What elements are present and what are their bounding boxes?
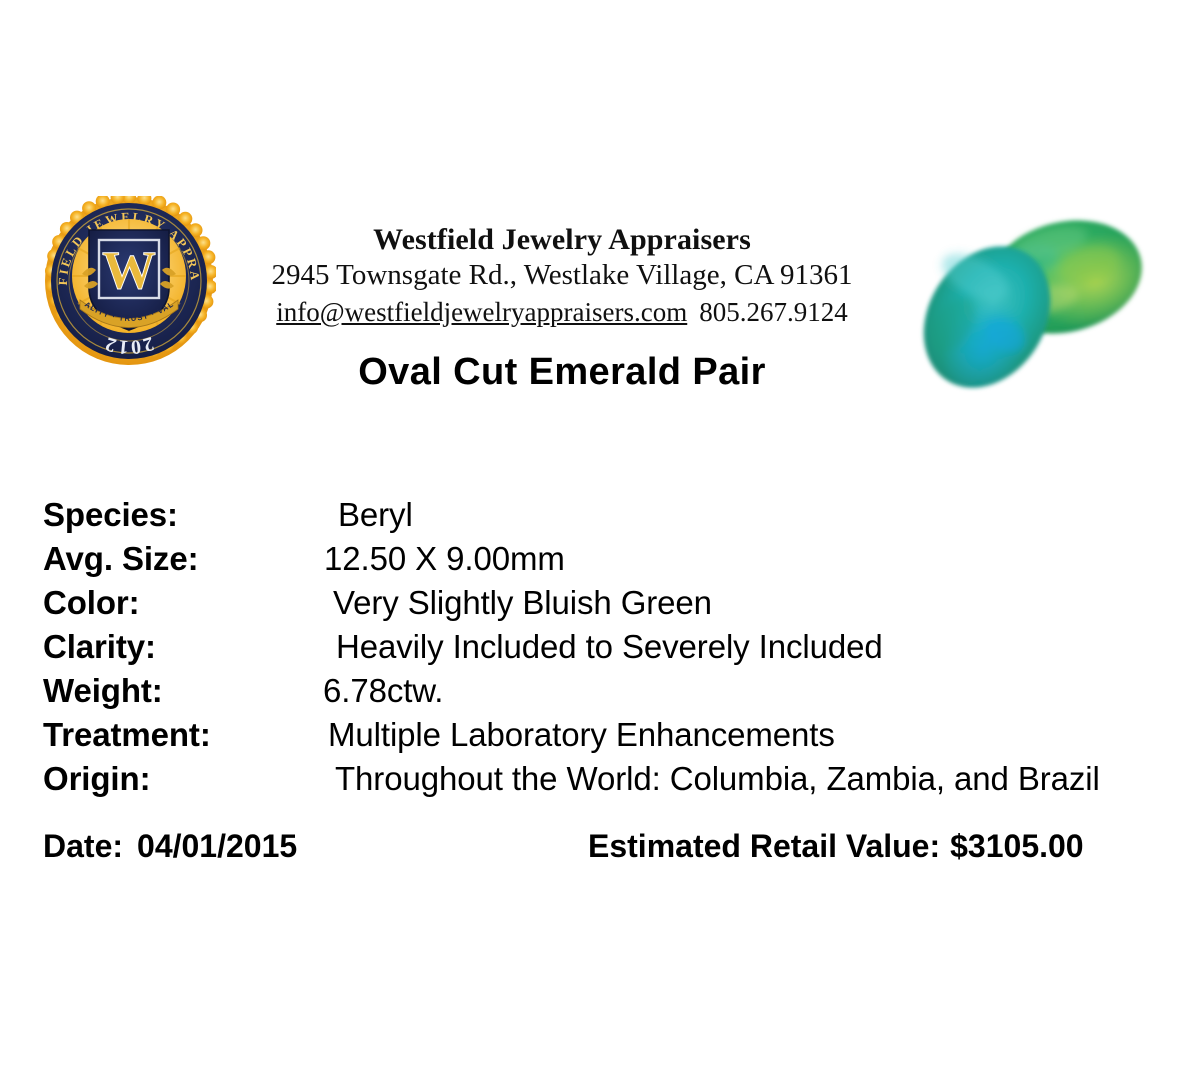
- retail-value-label: Estimated Retail Value:: [588, 828, 940, 864]
- gemstone-photo: [905, 205, 1195, 405]
- company-contact: info@westfieldjewelryappraisers.com805.2…: [232, 297, 892, 328]
- spec-value-treatment: Multiple Laboratory Enhancements: [328, 716, 835, 754]
- spec-label-treatment: Treatment:: [43, 716, 211, 754]
- appraisal-date: Date:04/01/2015: [43, 828, 297, 865]
- company-address: 2945 Townsgate Rd., Westlake Village, CA…: [232, 259, 892, 293]
- spec-label-weight: Weight:: [43, 672, 163, 710]
- spec-row-species: Species: Beryl: [43, 496, 1153, 540]
- spec-value-clarity: Heavily Included to Severely Included: [336, 628, 883, 666]
- spec-label-clarity: Clarity:: [43, 628, 156, 666]
- estimated-retail-value: Estimated Retail Value:$3105.00: [588, 828, 1084, 865]
- spec-row-color: Color: Very Slightly Bluish Green: [43, 584, 1153, 628]
- retail-value-amount: $3105.00: [950, 828, 1083, 864]
- spec-label-origin: Origin:: [43, 760, 150, 798]
- date-value: 04/01/2015: [137, 828, 297, 864]
- spec-row-treatment: Treatment: Multiple Laboratory Enhanceme…: [43, 716, 1153, 760]
- spec-row-weight: Weight: 6.78ctw.: [43, 672, 1153, 716]
- company-seal-logo: WESTFIELD JEWELRY APPRAISERS 2012: [42, 196, 216, 366]
- spec-row-clarity: Clarity: Heavily Included to Severely In…: [43, 628, 1153, 672]
- spec-label-avg-size: Avg. Size:: [43, 540, 198, 578]
- spec-label-species: Species:: [43, 496, 178, 534]
- spec-row-avg-size: Avg. Size: 12.50 X 9.00mm: [43, 540, 1153, 584]
- spec-value-species: Beryl: [338, 496, 413, 534]
- company-name: Westfield Jewelry Appraisers: [232, 224, 892, 256]
- page-title: Oval Cut Emerald Pair: [232, 351, 892, 394]
- spec-label-color: Color:: [43, 584, 140, 622]
- spec-value-avg-size: 12.50 X 9.00mm: [324, 540, 565, 578]
- date-label: Date:: [43, 828, 123, 864]
- certificate-footer: Date:04/01/2015 Estimated Retail Value:$…: [43, 828, 1153, 872]
- spec-value-origin: Throughout the World: Columbia, Zambia, …: [335, 760, 1100, 798]
- spec-value-color: Very Slightly Bluish Green: [333, 584, 712, 622]
- spec-value-weight: 6.78ctw.: [323, 672, 443, 710]
- company-phone: 805.267.9124: [699, 297, 848, 327]
- appraisal-certificate: WESTFIELD JEWELRY APPRAISERS 2012: [0, 0, 1200, 1080]
- spec-row-origin: Origin: Throughout the World: Columbia, …: [43, 760, 1153, 804]
- company-email-link[interactable]: info@westfieldjewelryappraisers.com: [276, 297, 687, 327]
- specifications-list: Species: Beryl Avg. Size: 12.50 X 9.00mm…: [43, 496, 1153, 804]
- letterhead: Westfield Jewelry Appraisers 2945 Townsg…: [232, 224, 892, 328]
- seal-monogram: W: [102, 240, 156, 300]
